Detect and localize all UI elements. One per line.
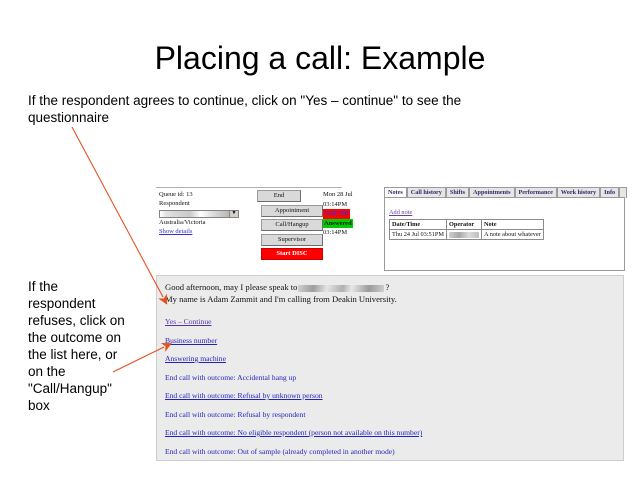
answered-status-badge: Answered xyxy=(323,219,353,229)
outcome-yes-continue[interactable]: Yes – Continue xyxy=(165,317,615,326)
divider xyxy=(156,187,342,188)
queue-id-label: Queue id: 13 xyxy=(159,191,255,200)
timezone-label: Australia/Victoria xyxy=(159,219,255,228)
status-date: Mon 28 Jul xyxy=(323,190,379,200)
table-row: Thu 24 Jul 03:51PM A note about whatever xyxy=(390,230,544,240)
side-annotation-text: If the respondent refuses, click on the … xyxy=(28,278,128,414)
outcome-refusal-by-respondent[interactable]: End call with outcome: Refusal by respon… xyxy=(165,410,615,419)
respondent-select[interactable]: ▼ xyxy=(159,210,239,218)
redacted-operator xyxy=(449,232,479,238)
column-header-note: Note xyxy=(481,220,543,230)
cell-operator xyxy=(446,230,481,240)
add-note-link[interactable]: Add note xyxy=(389,209,412,217)
outcome-no-eligible-respondent[interactable]: End call with outcome: No eligible respo… xyxy=(165,428,615,437)
outcome-answering-machine[interactable]: Answering machine xyxy=(165,354,615,363)
script-question-mark: ? xyxy=(385,282,389,292)
call-script-area: Good afternoon, may I please speak to? M… xyxy=(156,275,624,461)
embedded-app-screenshot: Queue id: 13 Respondent ▼ Australia/Vict… xyxy=(153,185,627,463)
status-time-end: 03:14PM xyxy=(323,228,379,238)
detail-tab-panel: Notes Call history Shifts Appointments P… xyxy=(384,187,625,271)
outcome-accidental-hang-up[interactable]: End call with outcome: Accidental hang u… xyxy=(165,373,615,382)
notes-table: Date/Time Operator Note Thu 24 Jul 03:51… xyxy=(389,219,544,240)
status-time-start: 03:14PM xyxy=(323,200,379,210)
voip-status-badge: VoIP Off xyxy=(323,209,350,219)
outcome-out-of-sample[interactable]: End call with outcome: Out of sample (al… xyxy=(165,447,615,456)
respondent-label: Respondent xyxy=(159,200,255,209)
script-greeting: Good afternoon, may I please speak to xyxy=(165,282,297,292)
end-button[interactable]: End xyxy=(257,190,301,202)
cell-note: A note about whatever xyxy=(481,230,543,240)
chevron-down-icon[interactable]: ▼ xyxy=(229,211,238,217)
script-line-1: Good afternoon, may I please speak to? xyxy=(165,282,615,294)
notes-tab-content: Add note Date/Time Operator Note Thu 24 … xyxy=(384,197,625,271)
app-top-strip: Queue id: 13 Respondent ▼ Australia/Vict… xyxy=(153,185,627,273)
show-details-link[interactable]: Show details xyxy=(159,228,255,237)
call-hangup-button[interactable]: Call/Hangup xyxy=(261,219,323,231)
appointment-button[interactable]: Appointment xyxy=(261,205,323,217)
call-action-buttons: End Appointment Call/Hangup Supervisor S… xyxy=(257,190,321,263)
table-header-row: Date/Time Operator Note xyxy=(390,220,544,230)
cell-datetime: Thu 24 Jul 03:51PM xyxy=(390,230,447,240)
respondent-info-panel: Queue id: 13 Respondent ▼ Australia/Vict… xyxy=(159,191,255,236)
start-disc-button[interactable]: Start DISC xyxy=(261,248,323,260)
outcome-refusal-unknown-person[interactable]: End call with outcome: Refusal by unknow… xyxy=(165,391,615,400)
supervisor-button[interactable]: Supervisor xyxy=(261,234,323,246)
page-title: Placing a call: Example xyxy=(0,40,640,76)
intro-annotation-text: If the respondent agrees to continue, cl… xyxy=(28,92,508,126)
outcome-business-number[interactable]: Business number xyxy=(165,336,615,345)
column-header-operator: Operator xyxy=(446,220,481,230)
script-line-2: My name is Adam Zammit and I'm calling f… xyxy=(165,294,615,306)
column-header-datetime: Date/Time xyxy=(390,220,447,230)
redacted-respondent-name xyxy=(298,285,384,292)
call-status-panel: Mon 28 Jul 03:14PM VoIP Off Answered 03:… xyxy=(323,190,379,238)
slide: Placing a call: Example If the responden… xyxy=(0,0,640,480)
arrow-to-yes-continue xyxy=(72,127,163,297)
